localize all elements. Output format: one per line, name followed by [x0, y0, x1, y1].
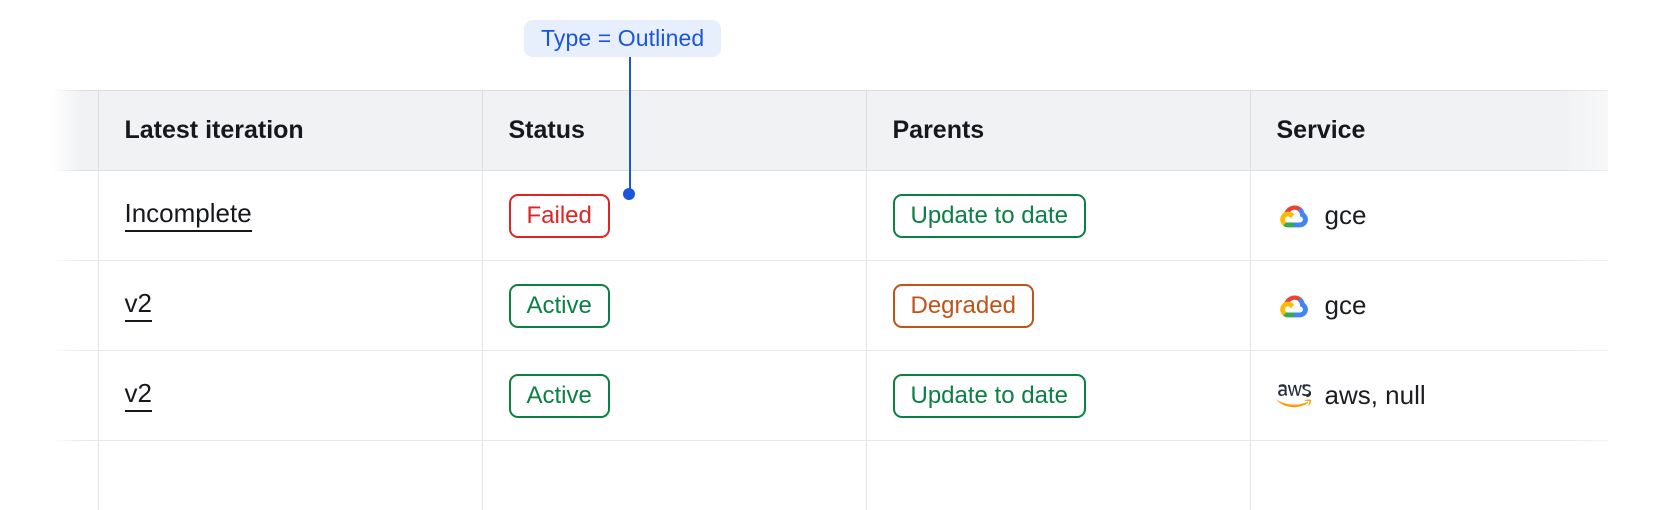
data-table-container: Latest iteration Status Parents Service … [0, 90, 1672, 510]
google-cloud-icon [1277, 199, 1311, 233]
iteration-link[interactable]: Incomplete [125, 199, 252, 231]
column-header-lead [52, 91, 98, 171]
table-row[interactable]: v2 Active Degraded [52, 261, 1608, 351]
status-badge: Active [509, 374, 610, 418]
cell-service: gce [1250, 171, 1608, 261]
parents-badge: Degraded [893, 284, 1034, 328]
cell-service: aws, null [1250, 351, 1608, 441]
table-row[interactable]: Incomplete Failed Update to date [52, 171, 1608, 261]
row-lead-cell [52, 351, 98, 441]
table-header-row: Latest iteration Status Parents Service [52, 91, 1608, 171]
annotation-callout: Type = Outlined [524, 20, 721, 57]
data-table: Latest iteration Status Parents Service … [52, 90, 1608, 510]
service-label: gce [1325, 290, 1367, 321]
column-header-latest-iteration[interactable]: Latest iteration [98, 91, 482, 171]
google-cloud-icon [1277, 289, 1311, 323]
screenshot-root: Type = Outlined Latest iteration Status … [0, 0, 1672, 510]
cell-parents: Degraded [866, 261, 1250, 351]
table-row[interactable]: v2 Active Update to date [52, 351, 1608, 441]
service-group: aws, null [1277, 379, 1609, 413]
cell-latest-iteration: v2 [98, 261, 482, 351]
service-group: gce [1277, 289, 1609, 323]
iteration-link[interactable]: v2 [125, 379, 152, 411]
status-badge: Active [509, 284, 610, 328]
cell-parents: Update to date [866, 171, 1250, 261]
annotation-label: Type = Outlined [541, 25, 704, 52]
cell-service: gce [1250, 261, 1608, 351]
cell-parents: Update to date [866, 351, 1250, 441]
cell-status: Active [482, 261, 866, 351]
cell-latest-iteration: Incomplete [98, 171, 482, 261]
parents-badge: Update to date [893, 194, 1086, 238]
cell-service [1250, 441, 1608, 510]
service-group: gce [1277, 199, 1609, 233]
aws-icon [1277, 379, 1311, 413]
column-header-status[interactable]: Status [482, 91, 866, 171]
column-header-service[interactable]: Service [1250, 91, 1608, 171]
parents-badge: Update to date [893, 374, 1086, 418]
cell-parents [866, 441, 1250, 510]
cell-status [482, 441, 866, 510]
cell-latest-iteration [98, 441, 482, 510]
table-body: Incomplete Failed Update to date [52, 171, 1608, 510]
annotation-leader-line [629, 57, 631, 194]
service-label: aws, null [1325, 380, 1426, 411]
cell-latest-iteration: v2 [98, 351, 482, 441]
annotation-target-dot [623, 188, 635, 200]
column-header-parents[interactable]: Parents [866, 91, 1250, 171]
service-label: gce [1325, 200, 1367, 231]
iteration-link[interactable]: v2 [125, 289, 152, 321]
row-lead-cell [52, 171, 98, 261]
cell-status: Failed [482, 171, 866, 261]
cell-status: Active [482, 351, 866, 441]
status-badge: Failed [509, 194, 610, 238]
row-lead-cell [52, 261, 98, 351]
table-header: Latest iteration Status Parents Service [52, 91, 1608, 171]
table-row[interactable] [52, 441, 1608, 510]
row-lead-cell [52, 441, 98, 510]
